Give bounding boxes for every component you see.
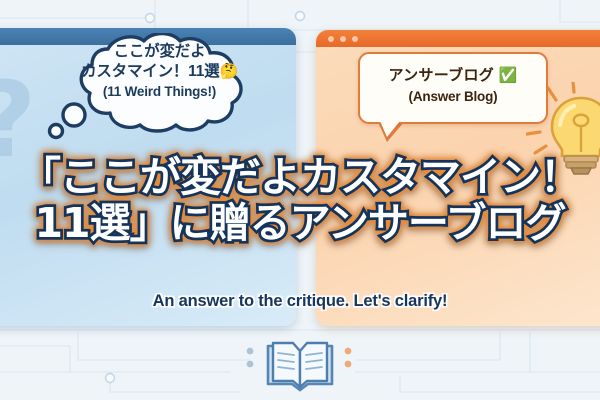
title-line-1: 「ここが変だよカスタマイン！: [0, 155, 600, 201]
bubble-line1: アンサーブログ: [388, 67, 494, 84]
page-title: 「ここが変だよカスタマイン！ 11選」に贈るアンサーブログ: [0, 155, 600, 247]
thought-cloud-bubble: [36, 33, 281, 145]
window-dot-maximize-icon[interactable]: [352, 36, 358, 42]
bubble-line2: (Answer Blog): [360, 89, 546, 104]
title-line-2: 11選」に贈るアンサーブログ: [0, 201, 600, 247]
answer-window-titlebar: [316, 30, 600, 47]
speech-bubble-text: アンサーブログ ✅ (Answer Blog): [360, 64, 546, 104]
page-subtitle: An answer to the critique. Let's clarify…: [0, 292, 600, 311]
window-dot-minimize-icon[interactable]: [340, 36, 346, 42]
check-mark-icon: ✅: [499, 66, 518, 84]
answer-speech-bubble: アンサーブログ ✅ (Answer Blog): [358, 52, 548, 124]
open-book-icon: [262, 340, 338, 394]
speech-bubble-tail-inner: [380, 121, 400, 137]
window-dot-close-icon[interactable]: [328, 36, 334, 42]
